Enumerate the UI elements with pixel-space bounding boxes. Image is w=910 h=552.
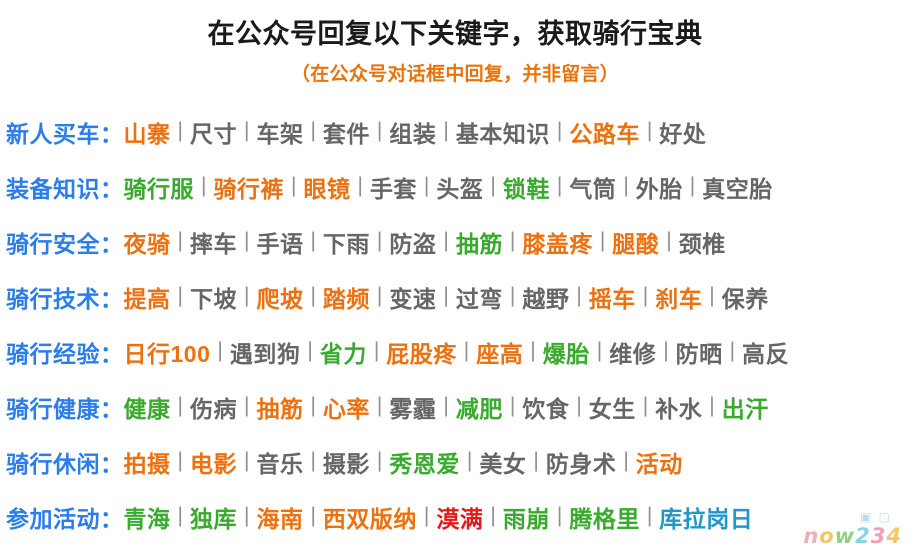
keyword-separator: | (370, 229, 389, 253)
keyword-item[interactable]: 真空胎 (702, 170, 773, 204)
watermark: now234 (803, 524, 902, 548)
keyword-item[interactable]: 越野 (522, 280, 569, 314)
keyword-item[interactable]: 颈椎 (679, 225, 726, 259)
keyword-separator: | (237, 119, 256, 143)
keyword-item[interactable]: 锁鞋 (503, 170, 550, 204)
keyword-separator: | (569, 284, 588, 308)
keyword-separator: | (640, 119, 659, 143)
keyword-row: 新人买车：山寨|尺寸|车架|套件|组装|基本知识|公路车|好处 (6, 104, 910, 159)
keyword-item[interactable]: 腾格里 (569, 500, 640, 534)
keyword-separator: | (210, 339, 229, 363)
keyword-separator: | (367, 339, 386, 363)
keyword-item[interactable]: 眼镜 (303, 170, 350, 204)
page-title: 在公众号回复以下关键字，获取骑行宝典 (0, 18, 910, 50)
watermark-char: o (819, 524, 834, 548)
keyword-item[interactable]: 防身术 (546, 445, 617, 479)
keyword-separator: | (436, 229, 455, 253)
keyword-separator: | (593, 229, 612, 253)
keyword-separator: | (503, 284, 522, 308)
keyword-separator: | (171, 119, 190, 143)
keyword-item[interactable]: 爬坡 (256, 280, 303, 314)
keyword-rows: 新人买车：山寨|尺寸|车架|套件|组装|基本知识|公路车|好处装备知识：骑行服|… (0, 104, 910, 544)
keyword-item[interactable]: 膝盖疼 (522, 225, 593, 259)
keyword-separator: | (616, 449, 635, 473)
keyword-item[interactable]: 补水 (655, 390, 702, 424)
keyword-separator: | (503, 394, 522, 418)
keyword-separator: | (702, 394, 721, 418)
keyword-item[interactable]: 维修 (609, 335, 656, 369)
keyword-row-label: 骑行技术： (6, 280, 124, 314)
keyword-row-label: 骑行经验： (6, 335, 124, 369)
keyword-item[interactable]: 公路车 (569, 115, 640, 149)
keyword-item[interactable]: 电影 (190, 445, 237, 479)
keyword-separator: | (237, 394, 256, 418)
keyword-row: 骑行安全：夜骑|摔车|手语|下雨|防盗|抽筋|膝盖疼|腿酸|颈椎 (6, 214, 910, 269)
keyword-list: 日行100|遇到狗|省力|屁股疼|座高|爆胎|维修|防晒|高反 (124, 335, 790, 369)
keyword-item[interactable]: 套件 (323, 115, 370, 149)
keyword-item[interactable]: 雨崩 (503, 500, 550, 534)
keyword-item[interactable]: 健康 (124, 390, 171, 424)
keyword-item[interactable]: 饮食 (522, 390, 569, 424)
keyword-item[interactable]: 女生 (589, 390, 636, 424)
keyword-row-label: 骑行健康： (6, 390, 124, 424)
keyword-separator: | (436, 394, 455, 418)
keyword-separator: | (171, 284, 190, 308)
keyword-item[interactable]: 抽筋 (456, 225, 503, 259)
keyword-separator: | (550, 119, 569, 143)
keyword-separator: | (303, 449, 322, 473)
keyword-separator: | (303, 229, 322, 253)
keyword-separator: | (171, 504, 190, 528)
keyword-item[interactable]: 踏频 (323, 280, 370, 314)
keyword-separator: | (303, 394, 322, 418)
keyword-separator: | (303, 119, 322, 143)
keyword-row: 骑行健康：健康|伤病|抽筋|心率|雾霾|减肥|饮食|女生|补水|出汗 (6, 379, 910, 434)
keyword-item[interactable]: 高反 (742, 335, 789, 369)
keyword-list: 拍摄|电影|音乐|摄影|秀恩爱|美女|防身术|活动 (124, 445, 683, 479)
keyword-item[interactable]: 出汗 (722, 390, 769, 424)
keyword-separator: | (370, 394, 389, 418)
keyword-item[interactable]: 保养 (722, 280, 769, 314)
keyword-row: 骑行技术：提高|下坡|爬坡|踏频|变速|过弯|越野|摇车|刹车|保养 (6, 269, 910, 324)
keyword-separator: | (526, 449, 545, 473)
watermark-char: w (835, 524, 855, 548)
keyword-item[interactable]: 手套 (370, 170, 417, 204)
keyword-separator: | (616, 174, 635, 198)
keyword-separator: | (171, 449, 190, 473)
keyword-item[interactable]: 西双版纳 (323, 500, 417, 534)
keyword-list: 夜骑|摔车|手语|下雨|防盗|抽筋|膝盖疼|腿酸|颈椎 (124, 225, 726, 259)
keyword-item[interactable]: 下坡 (190, 280, 237, 314)
keyword-separator: | (460, 449, 479, 473)
keyword-item[interactable]: 头盔 (436, 170, 483, 204)
keyword-item[interactable]: 防晒 (676, 335, 723, 369)
keyword-row: 骑行经验：日行100|遇到狗|省力|屁股疼|座高|爆胎|维修|防晒|高反 (6, 324, 910, 379)
keyword-separator: | (370, 284, 389, 308)
keyword-item[interactable]: 手语 (256, 225, 303, 259)
keyword-item[interactable]: 青海 (124, 500, 171, 534)
keyword-item[interactable]: 尺寸 (190, 115, 237, 149)
keyword-row-label: 参加活动： (6, 500, 124, 534)
keyword-item[interactable]: 气筒 (569, 170, 616, 204)
keyword-row-label: 骑行休闲： (6, 445, 124, 479)
keyword-item[interactable]: 伤病 (190, 390, 237, 424)
keyword-separator: | (503, 229, 522, 253)
keyword-row: 骑行休闲：拍摄|电影|音乐|摄影|秀恩爱|美女|防身术|活动 (6, 434, 910, 489)
keyword-separator: | (656, 339, 675, 363)
watermark-char: 2 (855, 524, 871, 548)
keyword-separator: | (550, 174, 569, 198)
keyword-item[interactable]: 摔车 (190, 225, 237, 259)
keyword-item[interactable]: 遇到狗 (230, 335, 301, 369)
keyword-row-label: 新人买车： (6, 115, 124, 149)
keyword-separator: | (436, 119, 455, 143)
watermark-icons: ▣ ▢ (860, 510, 892, 524)
keyword-item[interactable]: 拍摄 (124, 445, 171, 479)
keyword-item[interactable]: 摇车 (589, 280, 636, 314)
keyword-item[interactable]: 漠满 (436, 500, 483, 534)
keyword-item[interactable]: 库拉岗日 (659, 500, 753, 534)
keyword-separator: | (659, 229, 678, 253)
header: 在公众号回复以下关键字，获取骑行宝典 （在公众号对话框中回复，并非留言） (0, 0, 910, 86)
keyword-item[interactable]: 山寨 (124, 115, 171, 149)
keyword-separator: | (436, 284, 455, 308)
keyword-separator: | (590, 339, 609, 363)
keyword-item[interactable]: 海南 (256, 500, 303, 534)
keyword-item[interactable]: 屁股疼 (386, 335, 457, 369)
keyword-item[interactable]: 基本知识 (456, 115, 550, 149)
keyword-row-label: 骑行安全： (6, 225, 124, 259)
keyword-item[interactable]: 组装 (389, 115, 436, 149)
keyword-list: 提高|下坡|爬坡|踏频|变速|过弯|越野|摇车|刹车|保养 (124, 280, 769, 314)
keyword-item[interactable]: 刹车 (655, 280, 702, 314)
keyword-item[interactable]: 变速 (389, 280, 436, 314)
keyword-separator: | (300, 339, 319, 363)
keyword-separator: | (284, 174, 303, 198)
keyword-item[interactable]: 摄影 (323, 445, 370, 479)
keyword-separator: | (636, 284, 655, 308)
keyword-item[interactable]: 外胎 (636, 170, 683, 204)
keyword-item[interactable]: 座高 (476, 335, 523, 369)
keyword-separator: | (194, 174, 213, 198)
keyword-item[interactable]: 日行100 (124, 335, 211, 369)
keyword-separator: | (303, 284, 322, 308)
keyword-separator: | (483, 174, 502, 198)
watermark-char: 3 (871, 524, 887, 548)
keyword-separator: | (457, 339, 476, 363)
keyword-separator: | (683, 174, 702, 198)
keyword-item[interactable]: 爆胎 (543, 335, 590, 369)
keyword-item[interactable]: 美女 (479, 445, 526, 479)
keyword-row: 装备知识：骑行服|骑行裤|眼镜|手套|头盔|锁鞋|气筒|外胎|真空胎 (6, 159, 910, 214)
keyword-item[interactable]: 好处 (659, 115, 706, 149)
keyword-item[interactable]: 音乐 (256, 445, 303, 479)
keyword-separator: | (640, 504, 659, 528)
keyword-separator: | (417, 174, 436, 198)
keyword-item[interactable]: 雾霾 (389, 390, 436, 424)
keyword-item[interactable]: 骑行服 (124, 170, 195, 204)
keyword-separator: | (303, 504, 322, 528)
keyword-separator: | (237, 229, 256, 253)
keyword-separator: | (350, 174, 369, 198)
keyword-separator: | (569, 394, 588, 418)
keyword-separator: | (483, 504, 502, 528)
watermark-char: 4 (886, 524, 902, 548)
keyword-item[interactable]: 省力 (320, 335, 367, 369)
keyword-item[interactable]: 骑行裤 (213, 170, 284, 204)
keyword-row-label: 装备知识： (6, 170, 124, 204)
keyword-directory-page: 在公众号回复以下关键字，获取骑行宝典 （在公众号对话框中回复，并非留言） 新人买… (0, 0, 910, 552)
keyword-separator: | (417, 504, 436, 528)
keyword-separator: | (523, 339, 542, 363)
keyword-item[interactable]: 秀恩爱 (389, 445, 460, 479)
keyword-item[interactable]: 夜骑 (124, 225, 171, 259)
keyword-separator: | (171, 229, 190, 253)
keyword-separator: | (702, 284, 721, 308)
keyword-item[interactable]: 心率 (323, 390, 370, 424)
keyword-list: 健康|伤病|抽筋|心率|雾霾|减肥|饮食|女生|补水|出汗 (124, 390, 769, 424)
page-subtitle: （在公众号对话框中回复，并非留言） (0, 59, 910, 86)
keyword-item[interactable]: 车架 (256, 115, 303, 149)
keyword-item[interactable]: 减肥 (456, 390, 503, 424)
keyword-item[interactable]: 独库 (190, 500, 237, 534)
keyword-separator: | (636, 394, 655, 418)
watermark-char: n (803, 524, 819, 548)
keyword-item[interactable]: 抽筋 (256, 390, 303, 424)
keyword-separator: | (237, 449, 256, 473)
keyword-item[interactable]: 腿酸 (612, 225, 659, 259)
keyword-item[interactable]: 提高 (124, 280, 171, 314)
keyword-separator: | (370, 119, 389, 143)
keyword-separator: | (370, 449, 389, 473)
keyword-row: 参加活动：青海|独库|海南|西双版纳|漠满|雨崩|腾格里|库拉岗日 (6, 489, 910, 544)
keyword-item[interactable]: 活动 (636, 445, 683, 479)
keyword-item[interactable]: 防盗 (389, 225, 436, 259)
keyword-list: 骑行服|骑行裤|眼镜|手套|头盔|锁鞋|气筒|外胎|真空胎 (124, 170, 773, 204)
keyword-separator: | (550, 504, 569, 528)
keyword-item[interactable]: 过弯 (456, 280, 503, 314)
keyword-separator: | (723, 339, 742, 363)
keyword-list: 青海|独库|海南|西双版纳|漠满|雨崩|腾格里|库拉岗日 (124, 500, 754, 534)
keyword-separator: | (171, 394, 190, 418)
keyword-list: 山寨|尺寸|车架|套件|组装|基本知识|公路车|好处 (124, 115, 707, 149)
keyword-item[interactable]: 下雨 (323, 225, 370, 259)
keyword-separator: | (237, 504, 256, 528)
keyword-separator: | (237, 284, 256, 308)
